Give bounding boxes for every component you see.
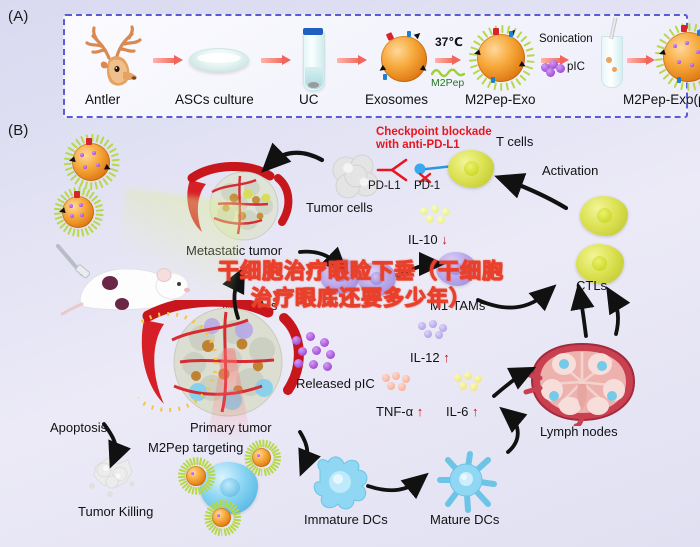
il-6-cytokine-dots [454, 372, 488, 394]
ultracentrifuge-tube-icon [303, 31, 325, 91]
temperature-annotation: 37℃ [435, 35, 463, 49]
panel-b-letter: (B) [8, 122, 29, 139]
label-il-6: IL-6 ↑ [446, 404, 479, 419]
il-12-arrow: ↑ [443, 350, 450, 365]
lymph-node-illustration [520, 340, 646, 426]
label-released-pic: Released pIC [296, 376, 375, 391]
m2pep-exo-pic-particle [663, 32, 700, 82]
targeting-nanoparticle-3 [212, 508, 231, 527]
panel-a-step-label-m2pep-exo-pic: M2Pep-Exo(pIC) [623, 92, 700, 107]
sonication-tube-icon [601, 36, 623, 88]
checkpoint-blockade-note: Checkpoint blockade with anti-PD-L1 [376, 126, 492, 151]
panel-a-step-label-ascs: ASCs culture [175, 92, 254, 107]
m1-tam-cell-1 [436, 252, 476, 286]
il-12-cytokine-dots [418, 320, 454, 342]
t-cell-main [448, 150, 494, 188]
m2pep-exosome-particle [477, 34, 525, 82]
label-tumor-killing: Tumor Killing [78, 504, 153, 519]
targeting-nanoparticle-1 [186, 466, 206, 486]
checkpoint-line-2: with anti-PD-L1 [376, 139, 460, 151]
label-lymph-nodes: Lymph nodes [540, 424, 618, 439]
m2-tam-cell-1 [320, 258, 360, 294]
figure-canvas: (A) [0, 0, 700, 547]
label-il-12: IL-12 ↑ [410, 350, 450, 365]
immature-dc-illustration [306, 450, 378, 516]
culture-dish-icon [189, 48, 249, 72]
beam-glow [111, 187, 245, 313]
mature-dc-illustration [428, 446, 506, 518]
label-activation: Activation [542, 163, 598, 178]
m2pep-label: M2Pep [431, 77, 464, 89]
label-immature-dcs: Immature DCs [304, 512, 388, 527]
tnf-alpha-cytokine-dots [382, 372, 416, 394]
panel-a-step-label-uc: UC [299, 92, 319, 107]
m2-tam-cell-2 [358, 262, 396, 296]
label-tnf-alpha: TNF-α ↑ [376, 404, 423, 419]
label-tumor-cells: Tumor cells [306, 200, 373, 215]
pic-label: pIC [567, 61, 585, 73]
dying-tumor-cell [84, 452, 142, 500]
label-apoptosis: Apoptosis [50, 420, 107, 435]
panel-a-box: Antler ASCs culture UC Exosomes [63, 14, 688, 118]
process-arrow-1 [153, 56, 183, 65]
process-arrow-6 [627, 56, 655, 65]
tnf-alpha-arrow: ↑ [417, 404, 424, 419]
injected-nanoparticle-2 [62, 196, 94, 228]
label-pd-1: PD-1 [414, 180, 440, 192]
checkpoint-line-1: Checkpoint blockade [376, 126, 492, 138]
process-arrow-3 [337, 56, 367, 65]
label-il-10: IL-10 ↓ [408, 232, 448, 247]
process-arrow-4 [435, 56, 461, 65]
label-t-cells: T cells [496, 134, 533, 149]
antler-deer-illustration [79, 24, 149, 90]
pic-dots-icon [541, 60, 565, 74]
il-10-cytokine-dots [420, 205, 456, 227]
tnf-alpha-text: TNF-α [376, 404, 413, 419]
t-cell-right-1 [580, 196, 628, 236]
label-m1-tams: M1-TAMs [430, 298, 485, 313]
panel-a-letter: (A) [8, 8, 29, 25]
panel-a-step-label-antler: Antler [85, 92, 120, 107]
sonication-label: Sonication [539, 33, 593, 45]
released-pic-dots [292, 332, 344, 370]
il-12-text: IL-12 [410, 350, 440, 365]
injected-nanoparticle-1 [72, 143, 110, 181]
label-mature-dcs: Mature DCs [430, 512, 499, 527]
label-pd-l1: PD-L1 [368, 180, 401, 192]
targeting-nanoparticle-2 [252, 448, 271, 467]
il-6-arrow: ↑ [472, 404, 479, 419]
il-10-text: IL-10 [408, 232, 438, 247]
process-arrow-2 [261, 56, 291, 65]
label-ctls: CTLs [576, 278, 607, 293]
il-10-arrow: ↓ [441, 232, 448, 247]
exosome-particle [381, 36, 427, 82]
il-6-text: IL-6 [446, 404, 468, 419]
panel-a-step-label-m2pep-exo: M2Pep-Exo [465, 92, 536, 107]
panel-a-step-label-exosomes: Exosomes [365, 92, 428, 107]
